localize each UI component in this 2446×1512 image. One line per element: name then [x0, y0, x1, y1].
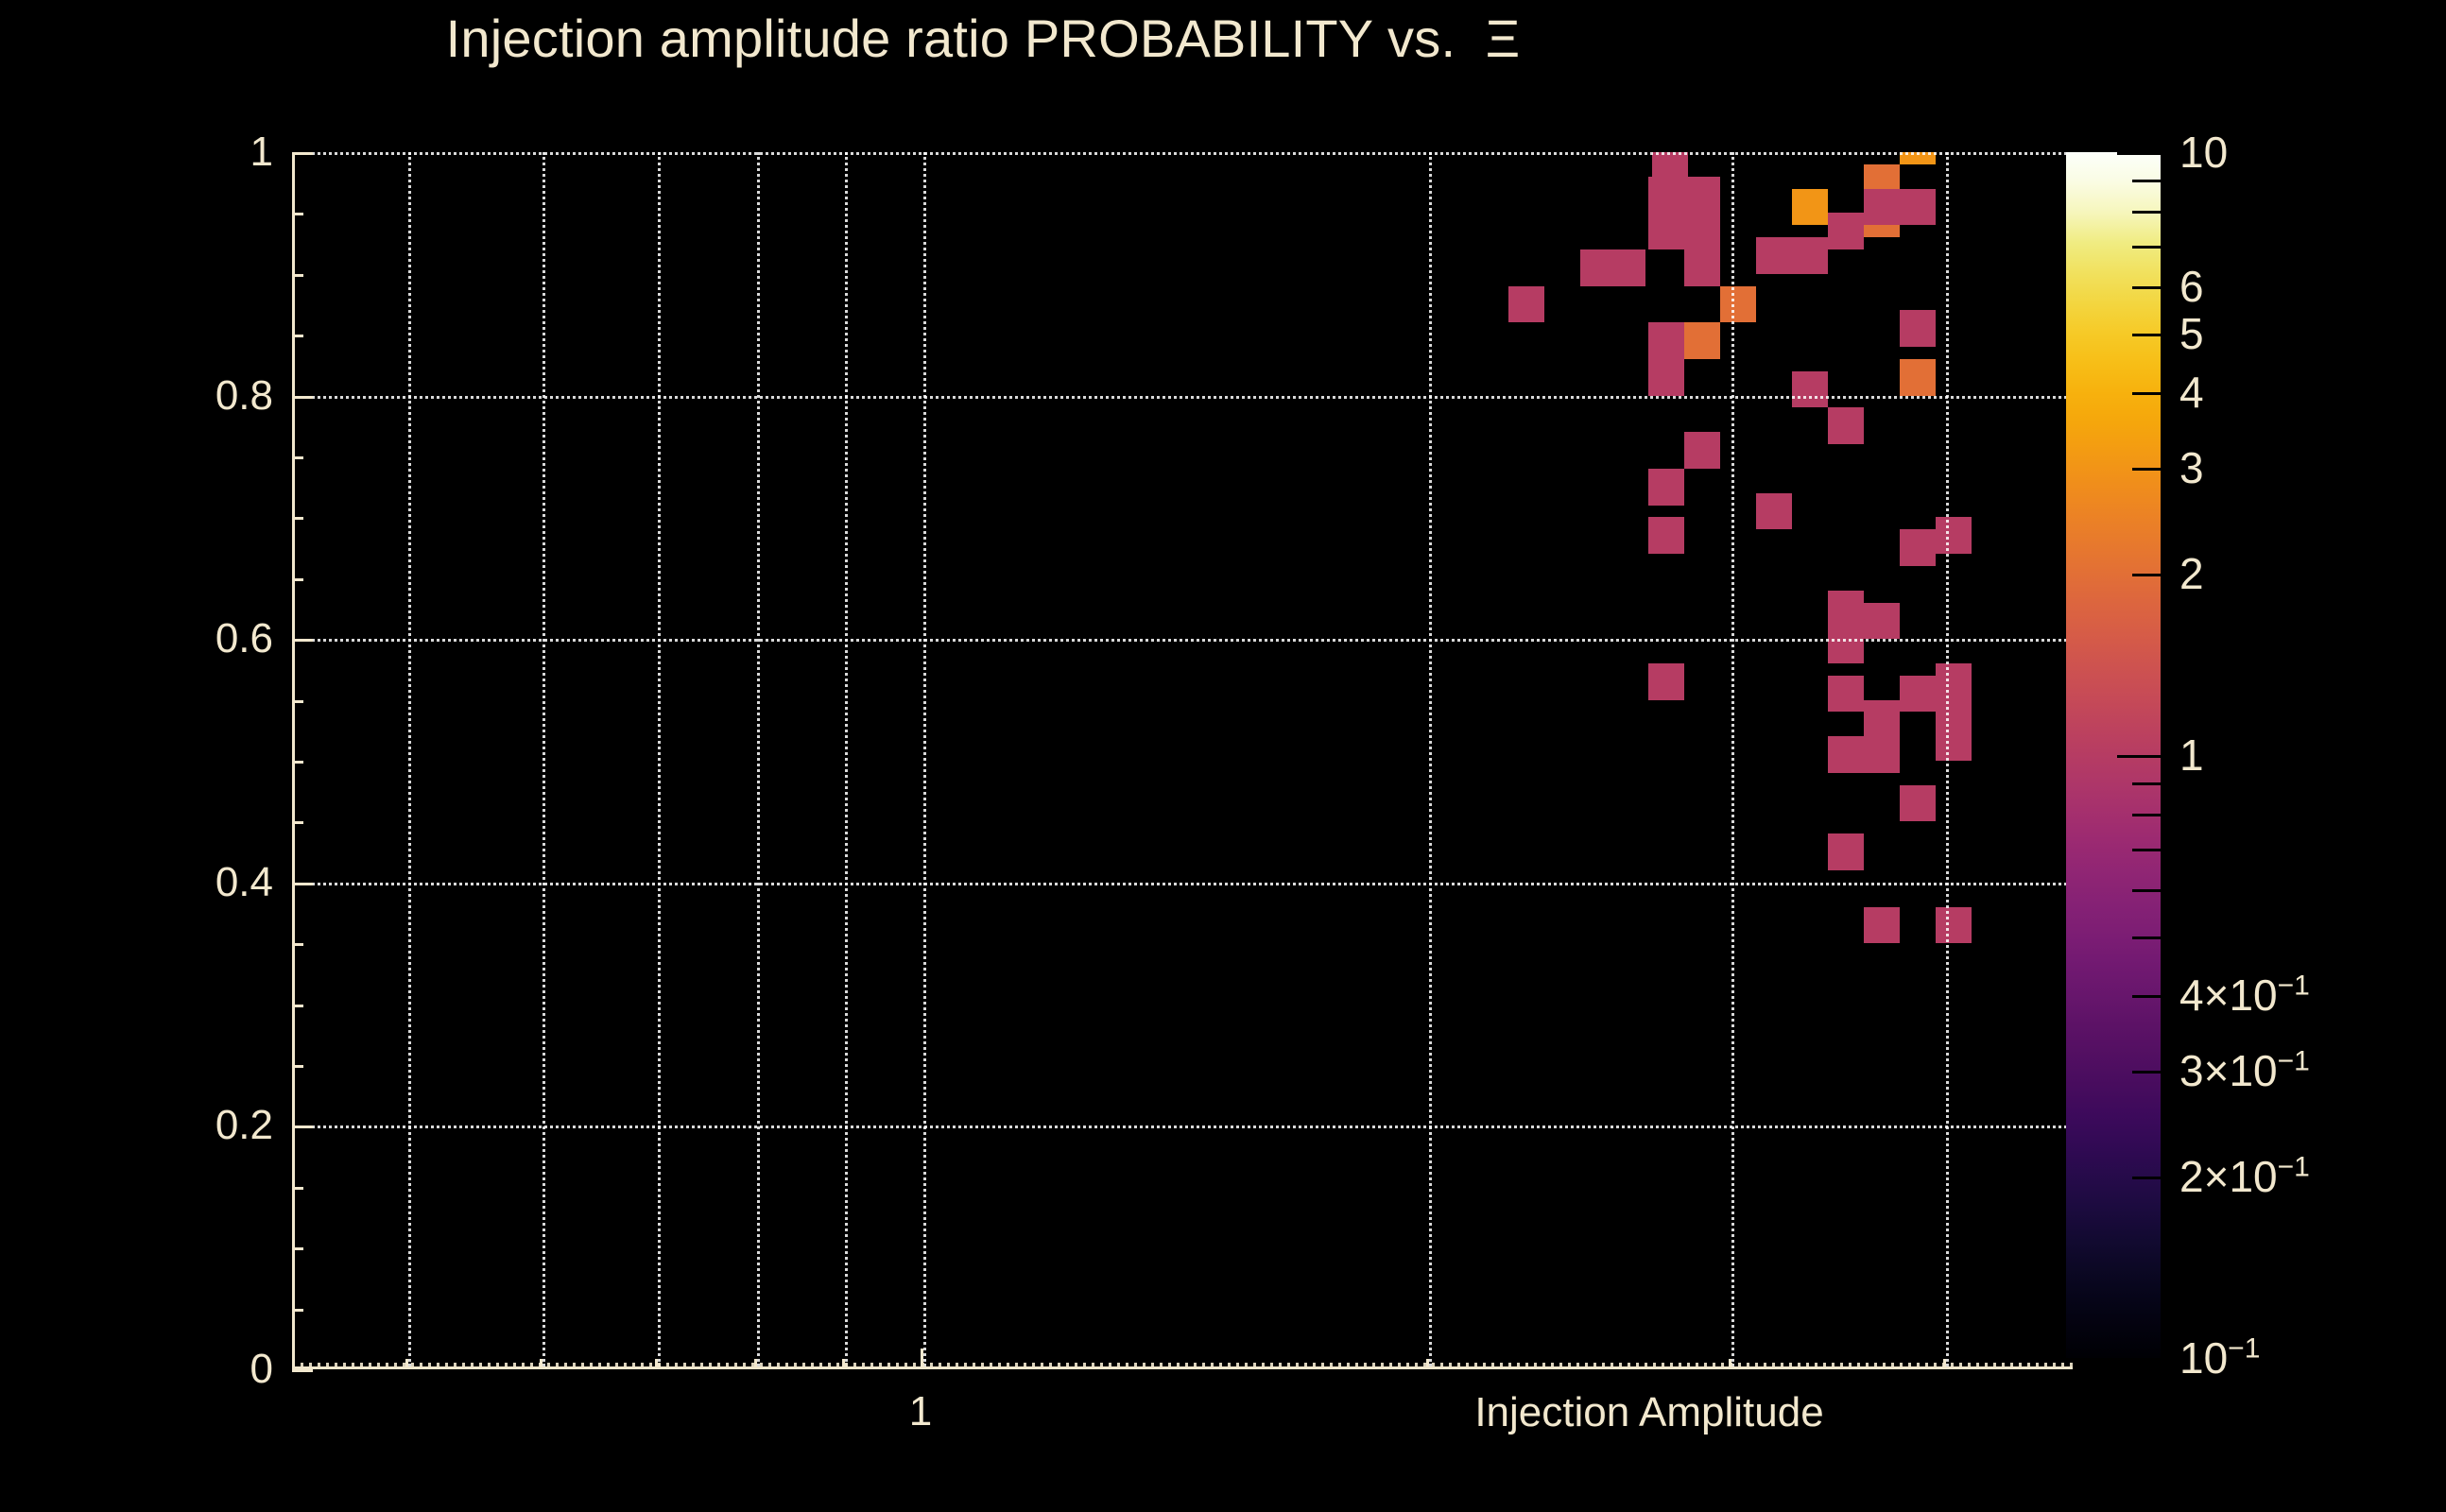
y-tick-minor	[292, 578, 303, 581]
x-tick-fine	[1253, 1363, 1256, 1369]
x-tick-fine	[1287, 1363, 1290, 1369]
y-tick-minor	[292, 1005, 303, 1007]
x-tick-fine	[1551, 1363, 1554, 1369]
colorbar-tick-label: 2×10−1	[2179, 1151, 2310, 1202]
gridline-horizontal	[295, 639, 2073, 642]
x-tick-fine	[1109, 1363, 1111, 1369]
y-tick-major	[292, 883, 313, 885]
x-tick-fine	[1806, 1363, 1809, 1369]
x-tick-fine	[1721, 1363, 1724, 1369]
x-tick-fine	[1279, 1363, 1282, 1369]
x-tick-fine	[1032, 1363, 1035, 1369]
y-tick-major	[292, 396, 313, 399]
x-tick-fine	[947, 1363, 950, 1369]
x-tick-minor	[405, 1359, 408, 1369]
x-tick-fine	[1908, 1363, 1911, 1369]
x-tick-fine	[522, 1363, 525, 1369]
x-tick-fine	[990, 1363, 992, 1369]
x-tick-fine	[1781, 1363, 1783, 1369]
x-tick-fine	[913, 1363, 916, 1369]
grid-layer	[295, 152, 2073, 1366]
x-tick-fine	[1330, 1363, 1333, 1369]
x-tick-fine	[1228, 1363, 1231, 1369]
x-tick-fine	[496, 1363, 499, 1369]
x-tick-fine	[1525, 1363, 1528, 1369]
x-tick-fine	[1985, 1363, 1988, 1369]
x-tick-minor	[754, 1359, 757, 1369]
colorbar-tick-minor	[2132, 334, 2161, 336]
colorbar-tick-label: 10	[2179, 127, 2228, 178]
x-tick-fine	[785, 1363, 788, 1369]
x-tick-fine	[1772, 1363, 1775, 1369]
x-tick-fine	[1593, 1363, 1596, 1369]
x-tick-fine	[1457, 1363, 1460, 1369]
x-tick-fine	[369, 1363, 371, 1369]
gridline-vertical	[757, 152, 760, 1366]
x-tick-fine	[794, 1363, 797, 1369]
x-tick-fine	[2053, 1363, 2056, 1369]
x-tick-fine	[1338, 1363, 1341, 1369]
x-tick-fine	[1619, 1363, 1622, 1369]
x-tick-fine	[649, 1363, 652, 1369]
x-tick-fine	[454, 1363, 456, 1369]
x-tick-fine	[1798, 1363, 1800, 1369]
x-tick-fine	[1194, 1363, 1197, 1369]
y-tick-minor	[292, 1309, 303, 1312]
x-tick-fine	[1713, 1363, 1715, 1369]
x-tick-fine	[760, 1363, 763, 1369]
gridline-horizontal	[295, 1125, 2073, 1128]
x-tick-fine	[811, 1363, 814, 1369]
x-tick-fine	[462, 1363, 465, 1369]
x-tick-fine	[2070, 1363, 2073, 1369]
x-tick-fine	[973, 1363, 975, 1369]
y-tick-minor	[292, 821, 303, 824]
gridline-vertical	[408, 152, 411, 1366]
x-tick-fine	[1185, 1363, 1188, 1369]
plot-frame	[292, 152, 2073, 1369]
x-tick-fine	[1007, 1363, 1009, 1369]
x-tick-fine	[1508, 1363, 1511, 1369]
x-tick-fine	[1491, 1363, 1494, 1369]
colorbar-tick-major	[2117, 755, 2161, 758]
gridline-vertical	[658, 152, 661, 1366]
x-tick-fine	[1474, 1363, 1477, 1369]
x-tick-fine	[1049, 1363, 1052, 1369]
x-tick-fine	[437, 1363, 439, 1369]
x-tick-label: 1	[909, 1388, 932, 1435]
x-tick-fine	[1738, 1363, 1741, 1369]
y-tick-minor	[292, 335, 303, 337]
x-tick-fine	[1704, 1363, 1707, 1369]
x-tick-fine	[1891, 1363, 1894, 1369]
x-tick-fine	[1883, 1363, 1886, 1369]
x-tick-fine	[1449, 1363, 1452, 1369]
gridline-horizontal	[295, 396, 2073, 399]
x-tick-fine	[1432, 1363, 1435, 1369]
x-tick-fine	[658, 1363, 661, 1369]
x-tick-fine	[1168, 1363, 1171, 1369]
x-tick-fine	[1755, 1363, 1758, 1369]
x-tick-fine	[547, 1363, 550, 1369]
x-tick-fine	[870, 1363, 873, 1369]
x-tick-fine	[930, 1363, 933, 1369]
x-tick-fine	[1024, 1363, 1026, 1369]
x-tick-fine	[845, 1363, 848, 1369]
x-tick-fine	[1423, 1363, 1426, 1369]
x-tick-fine	[420, 1363, 422, 1369]
x-tick-fine	[700, 1363, 703, 1369]
x-tick-fine	[1687, 1363, 1690, 1369]
x-tick-fine	[2061, 1363, 2064, 1369]
x-tick-fine	[998, 1363, 1001, 1369]
y-tick-minor	[292, 1187, 303, 1190]
x-tick-fine	[1670, 1363, 1673, 1369]
x-tick-fine	[641, 1363, 644, 1369]
x-tick-fine	[1075, 1363, 1077, 1369]
gridline-vertical	[923, 152, 926, 1366]
x-tick-fine	[1440, 1363, 1443, 1369]
x-tick-fine	[564, 1363, 567, 1369]
x-tick-fine	[581, 1363, 584, 1369]
x-tick-fine	[1143, 1363, 1145, 1369]
x-tick-fine	[556, 1363, 559, 1369]
colorbar-tick-minor	[2132, 468, 2161, 471]
x-tick-fine	[1211, 1363, 1214, 1369]
x-tick-fine	[352, 1363, 354, 1369]
x-tick-fine	[1602, 1363, 1605, 1369]
colorbar-tick-major	[2117, 1358, 2161, 1361]
colorbar-tick-label: 3	[2179, 442, 2204, 493]
x-tick-fine	[1764, 1363, 1766, 1369]
x-tick-fine	[513, 1363, 516, 1369]
x-tick-fine	[1968, 1363, 1971, 1369]
gridline-vertical	[1731, 152, 1734, 1366]
x-tick-fine	[2027, 1363, 2030, 1369]
x-tick-fine	[1832, 1363, 1834, 1369]
x-tick-fine	[1849, 1363, 1852, 1369]
y-tick-minor	[292, 943, 303, 946]
x-tick-fine	[709, 1363, 712, 1369]
x-tick-fine	[1270, 1363, 1273, 1369]
x-tick-fine	[734, 1363, 737, 1369]
x-tick-fine	[309, 1363, 312, 1369]
colorbar-tick-minor	[2132, 246, 2161, 249]
x-tick-fine	[1679, 1363, 1681, 1369]
x-tick-fine	[1117, 1363, 1120, 1369]
colorbar-tick-minor	[2132, 936, 2161, 939]
colorbar-tick-minor	[2132, 180, 2161, 182]
x-tick-fine	[1160, 1363, 1163, 1369]
x-tick-fine	[819, 1363, 822, 1369]
x-tick-fine	[607, 1363, 610, 1369]
colorbar-tick-minor	[2132, 782, 2161, 785]
x-tick-fine	[1347, 1363, 1350, 1369]
x-tick-fine	[1823, 1363, 1826, 1369]
x-tick-fine	[1415, 1363, 1418, 1369]
x-tick-fine	[777, 1363, 780, 1369]
x-tick-fine	[292, 1363, 295, 1369]
x-tick-fine	[1015, 1363, 1018, 1369]
x-tick-fine	[879, 1363, 882, 1369]
x-tick-minor	[1426, 1359, 1429, 1369]
x-tick-fine	[2010, 1363, 2013, 1369]
x-tick-fine	[360, 1363, 363, 1369]
colorbar-tick-minor	[2132, 1177, 2161, 1179]
x-tick-fine	[1611, 1363, 1613, 1369]
x-tick-fine	[1942, 1363, 1945, 1369]
colorbar-tick-minor	[2132, 392, 2161, 395]
x-tick-fine	[717, 1363, 720, 1369]
y-tick-label: 0.8	[112, 372, 273, 420]
x-tick-fine	[939, 1363, 941, 1369]
x-tick-fine	[1789, 1363, 1792, 1369]
x-tick-fine	[1398, 1363, 1401, 1369]
x-tick-fine	[692, 1363, 695, 1369]
x-tick-fine	[904, 1363, 907, 1369]
x-tick-fine	[666, 1363, 669, 1369]
x-tick-fine	[1245, 1363, 1248, 1369]
x-tick-fine	[2002, 1363, 2005, 1369]
x-tick-fine	[1696, 1363, 1698, 1369]
colorbar-tick-label: 3×10−1	[2179, 1045, 2310, 1096]
x-tick-fine	[1389, 1363, 1392, 1369]
y-tick-label: 0.4	[112, 859, 273, 906]
x-tick-fine	[1874, 1363, 1877, 1369]
y-tick-minor	[292, 274, 303, 277]
y-tick-minor	[292, 517, 303, 520]
x-tick-fine	[1568, 1363, 1571, 1369]
x-tick-fine	[1959, 1363, 1962, 1369]
x-tick-fine	[1517, 1363, 1520, 1369]
x-tick-fine	[1857, 1363, 1860, 1369]
x-tick-fine	[505, 1363, 508, 1369]
x-tick-fine	[1934, 1363, 1937, 1369]
x-tick-fine	[1219, 1363, 1222, 1369]
gridline-vertical	[845, 152, 848, 1366]
x-tick-fine	[1636, 1363, 1639, 1369]
x-tick-fine	[1976, 1363, 1979, 1369]
x-tick-fine	[1092, 1363, 1094, 1369]
x-tick-fine	[981, 1363, 984, 1369]
x-tick-fine	[479, 1363, 482, 1369]
x-tick-fine	[1653, 1363, 1656, 1369]
x-tick-fine	[301, 1363, 303, 1369]
y-tick-minor	[292, 213, 303, 215]
y-tick-minor	[292, 700, 303, 703]
colorbar-tick-label: 4×10−1	[2179, 970, 2310, 1021]
x-tick-fine	[836, 1363, 839, 1369]
gridline-horizontal	[295, 152, 2073, 155]
x-tick-fine	[598, 1363, 601, 1369]
x-tick-fine	[1406, 1363, 1409, 1369]
x-tick-fine	[1296, 1363, 1299, 1369]
x-tick-fine	[1083, 1363, 1086, 1369]
x-tick-fine	[1321, 1363, 1324, 1369]
x-tick-fine	[1585, 1363, 1588, 1369]
colorbar-tick-minor	[2132, 889, 2161, 892]
colorbar-tick-minor	[2132, 286, 2161, 289]
colorbar-tick-label: 2	[2179, 548, 2204, 599]
y-tick-minor	[292, 1065, 303, 1068]
x-tick-fine	[1500, 1363, 1503, 1369]
x-tick-fine	[573, 1363, 576, 1369]
colorbar-tick-minor	[2132, 574, 2161, 576]
x-tick-fine	[530, 1363, 533, 1369]
x-tick-fine	[743, 1363, 746, 1369]
plot-canvas: Injection amplitude ratio PROBABILITY vs…	[0, 0, 2446, 1512]
x-tick-fine	[343, 1363, 346, 1369]
x-tick-fine	[1576, 1363, 1579, 1369]
x-tick-fine	[335, 1363, 337, 1369]
colorbar-tick-label: 6	[2179, 261, 2204, 312]
x-tick-fine	[1466, 1363, 1469, 1369]
x-tick-fine	[1041, 1363, 1043, 1369]
x-tick-fine	[615, 1363, 618, 1369]
x-tick-fine	[2044, 1363, 2047, 1369]
x-tick-fine	[1730, 1363, 1732, 1369]
x-tick-fine	[1925, 1363, 1928, 1369]
y-tick-major	[292, 1369, 313, 1372]
x-tick-fine	[1628, 1363, 1630, 1369]
x-tick-fine	[411, 1363, 414, 1369]
x-tick-fine	[1900, 1363, 1903, 1369]
x-tick-fine	[1662, 1363, 1664, 1369]
colorbar-tick-label: 10−1	[2179, 1332, 2260, 1383]
x-tick-fine	[471, 1363, 474, 1369]
x-tick-fine	[887, 1363, 890, 1369]
colorbar-tick-minor	[2132, 211, 2161, 214]
x-tick-fine	[1355, 1363, 1358, 1369]
x-tick-fine	[1840, 1363, 1843, 1369]
y-tick-label: 0.2	[112, 1102, 273, 1149]
x-tick-fine	[1313, 1363, 1316, 1369]
x-tick-fine	[1993, 1363, 1996, 1369]
x-tick-fine	[802, 1363, 805, 1369]
x-tick-fine	[488, 1363, 491, 1369]
x-tick-fine	[2019, 1363, 2022, 1369]
x-tick-fine	[1177, 1363, 1180, 1369]
x-tick-fine	[1364, 1363, 1367, 1369]
y-tick-label: 0.6	[112, 615, 273, 662]
x-tick-fine	[683, 1363, 686, 1369]
x-tick-fine	[922, 1363, 924, 1369]
x-tick-fine	[1815, 1363, 1817, 1369]
x-tick-fine	[1747, 1363, 1749, 1369]
colorbar-tick-label: 1	[2179, 730, 2204, 781]
y-tick-minor	[292, 456, 303, 459]
x-tick-fine	[675, 1363, 678, 1369]
x-tick-fine	[377, 1363, 380, 1369]
x-tick-fine	[896, 1363, 899, 1369]
x-tick-fine	[1917, 1363, 1920, 1369]
x-tick-fine	[1542, 1363, 1545, 1369]
colorbar-tick-label: 5	[2179, 308, 2204, 359]
x-tick-fine	[2036, 1363, 2039, 1369]
x-tick-fine	[1534, 1363, 1537, 1369]
gridline-horizontal	[295, 883, 2073, 885]
x-tick-fine	[624, 1363, 627, 1369]
colorbar-tick-minor	[2132, 1071, 2161, 1074]
colorbar-tick-label: 4	[2179, 367, 2204, 418]
colorbar-tick-minor	[2132, 849, 2161, 851]
x-tick-fine	[403, 1363, 405, 1369]
x-tick-fine	[1066, 1363, 1069, 1369]
x-tick-fine	[445, 1363, 448, 1369]
x-tick-fine	[386, 1363, 388, 1369]
gridline-vertical	[543, 152, 545, 1366]
y-tick-minor	[292, 1247, 303, 1250]
x-tick-fine	[726, 1363, 729, 1369]
x-tick-fine	[956, 1363, 958, 1369]
x-tick-fine	[1151, 1363, 1154, 1369]
x-tick-fine	[1483, 1363, 1486, 1369]
x-tick-fine	[326, 1363, 329, 1369]
x-tick-fine	[1134, 1363, 1137, 1369]
x-tick-fine	[828, 1363, 831, 1369]
x-tick-fine	[853, 1363, 856, 1369]
x-tick-fine	[1262, 1363, 1265, 1369]
x-tick-fine	[1058, 1363, 1060, 1369]
x-tick-fine	[590, 1363, 593, 1369]
x-tick-fine	[751, 1363, 754, 1369]
y-tick-label: 1	[112, 129, 273, 176]
x-tick-fine	[862, 1363, 865, 1369]
x-tick-fine	[1202, 1363, 1205, 1369]
x-tick-fine	[1951, 1363, 1954, 1369]
y-tick-major	[292, 1125, 313, 1128]
x-tick-fine	[768, 1363, 771, 1369]
x-tick-fine	[964, 1363, 967, 1369]
gridline-vertical	[1946, 152, 1949, 1366]
x-tick-fine	[1645, 1363, 1647, 1369]
x-tick-fine	[1304, 1363, 1307, 1369]
y-tick-minor	[292, 761, 303, 764]
x-tick-fine	[1100, 1363, 1103, 1369]
x-tick-fine	[428, 1363, 431, 1369]
y-tick-major	[292, 152, 313, 155]
y-tick-label: 0	[112, 1346, 273, 1393]
page-title: Injection amplitude ratio PROBABILITY vs…	[0, 8, 1966, 69]
x-axis-title: Injection Amplitude	[1474, 1389, 1823, 1436]
x-tick-fine	[632, 1363, 635, 1369]
x-tick-fine	[1559, 1363, 1562, 1369]
x-tick-fine	[1866, 1363, 1869, 1369]
x-tick-fine	[1126, 1363, 1128, 1369]
colorbar-tick-minor	[2132, 814, 2161, 816]
gridline-vertical	[1429, 152, 1432, 1366]
x-tick-fine	[1381, 1363, 1384, 1369]
colorbar-tick-major	[2117, 152, 2161, 155]
x-tick-fine	[1236, 1363, 1239, 1369]
x-tick-fine	[1372, 1363, 1375, 1369]
x-tick-fine	[539, 1363, 542, 1369]
x-tick-fine	[318, 1363, 320, 1369]
y-tick-major	[292, 639, 313, 642]
x-tick-fine	[394, 1363, 397, 1369]
colorbar-tick-minor	[2132, 995, 2161, 998]
